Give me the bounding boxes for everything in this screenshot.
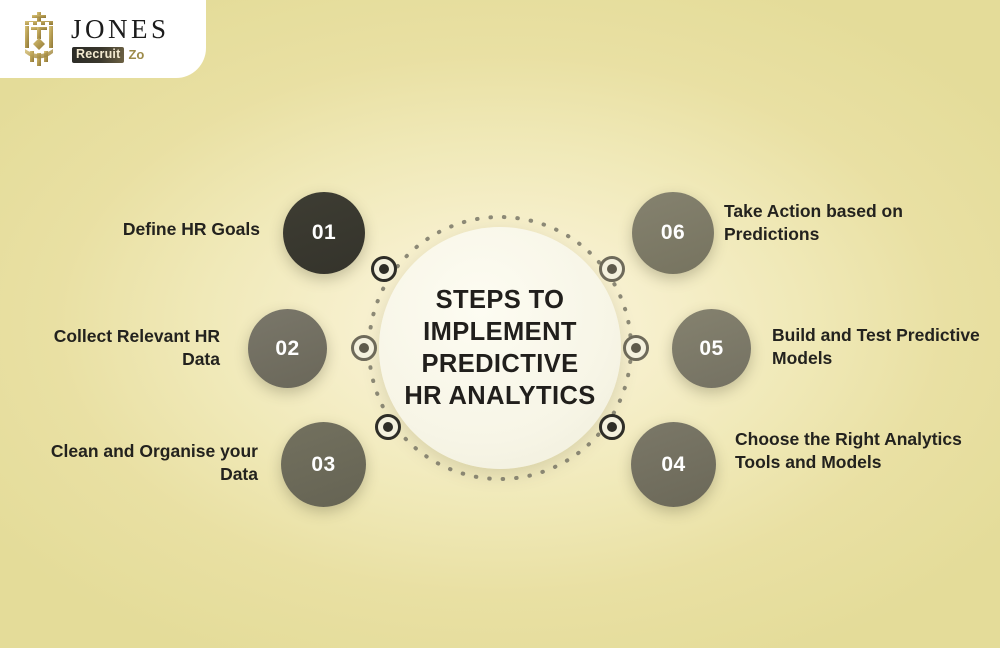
step-label-05: Build and Test Predictive Models [772, 324, 990, 371]
brand-wordmark: JONES Recruit Zo [71, 16, 170, 64]
step-number-05: 05 [699, 337, 723, 361]
step-number-04: 04 [661, 453, 685, 477]
brand-logo-card[interactable]: JONES Recruit Zo [0, 0, 206, 78]
step-circle-02[interactable]: 02 [248, 309, 327, 388]
step-number-06: 06 [661, 221, 685, 245]
brand-suffix-zo: Zo [128, 48, 144, 62]
step-circle-05[interactable]: 05 [672, 309, 751, 388]
page-title: STEPS TO IMPLEMENT PREDICTIVE HR ANALYTI… [400, 284, 600, 413]
step-number-02: 02 [275, 337, 299, 361]
connector-node-03 [375, 414, 401, 440]
step-label-03: Clean and Organise your Data [20, 440, 258, 487]
connector-node-04 [599, 414, 625, 440]
step-circle-04[interactable]: 04 [631, 422, 716, 507]
center-hub: STEPS TO IMPLEMENT PREDICTIVE HR ANALYTI… [357, 205, 643, 491]
brand-name: JONES [71, 16, 170, 43]
step-number-01: 01 [312, 221, 336, 245]
step-circle-06[interactable]: 06 [632, 192, 714, 274]
connector-node-06 [599, 256, 625, 282]
brand-badge-recruit: Recruit [72, 47, 124, 64]
step-circle-03[interactable]: 03 [281, 422, 366, 507]
connector-node-05 [623, 335, 649, 361]
connector-node-02 [351, 335, 377, 361]
step-label-06: Take Action based on Predictions [724, 200, 974, 247]
step-label-02: Collect Relevant HR Data [20, 325, 220, 372]
step-circle-01[interactable]: 01 [283, 192, 365, 274]
connector-node-01 [371, 256, 397, 282]
step-label-04: Choose the Right Analytics Tools and Mod… [735, 428, 985, 475]
brand-tagline: Recruit Zo [72, 47, 170, 64]
step-number-03: 03 [311, 453, 335, 477]
hub-disc: STEPS TO IMPLEMENT PREDICTIVE HR ANALYTI… [379, 227, 621, 469]
shield-crest-icon [16, 11, 62, 67]
step-label-01: Define HR Goals [20, 218, 260, 241]
